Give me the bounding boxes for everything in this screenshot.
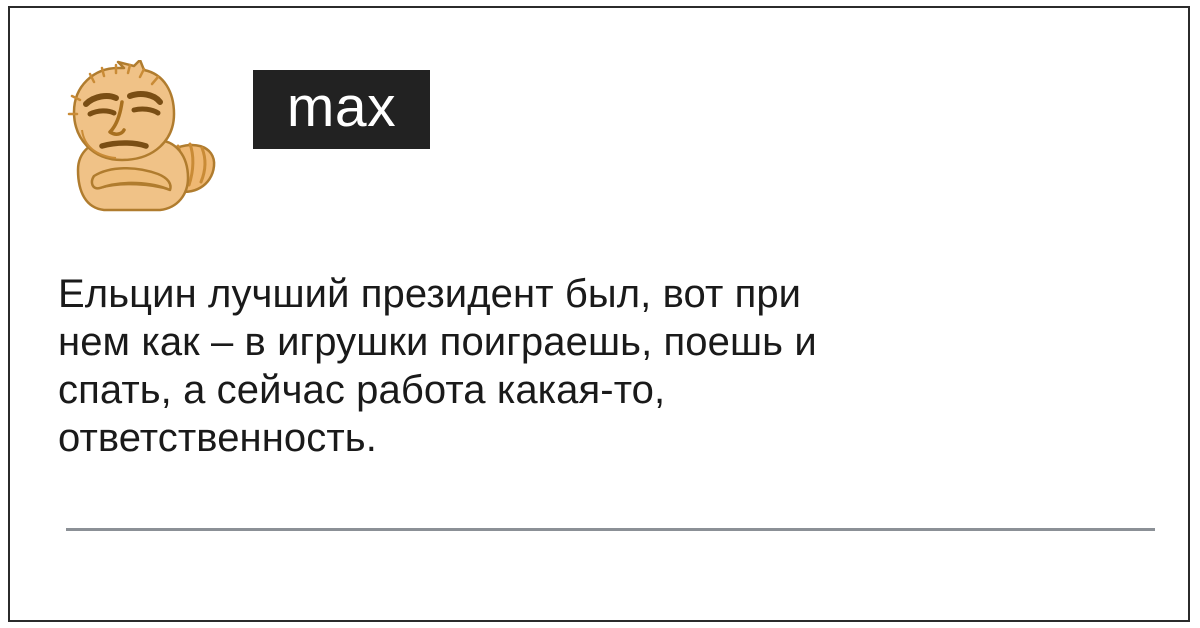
post-body-line: Ельцин лучший президент был, вот при [58,270,1158,318]
post-divider [66,528,1155,531]
post-body-text: Ельцин лучший президент был, вот при нем… [58,270,1158,462]
post-body-line: нем как – в игрушки поиграешь, поешь и [58,318,1158,366]
post-body-line: ответственность. [58,414,1158,462]
post-body-line: спать, а сейчас работа какая-то, [58,366,1158,414]
post-card: max Ельцин лучший президент был, вот при… [8,6,1190,622]
screenshot-root: max Ельцин лучший президент был, вот при… [0,0,1200,628]
man-face-cat-avatar-icon[interactable] [60,60,220,215]
post-header: max [10,8,1188,218]
author-name-label: max [287,79,396,140]
author-name-badge[interactable]: max [253,70,430,149]
